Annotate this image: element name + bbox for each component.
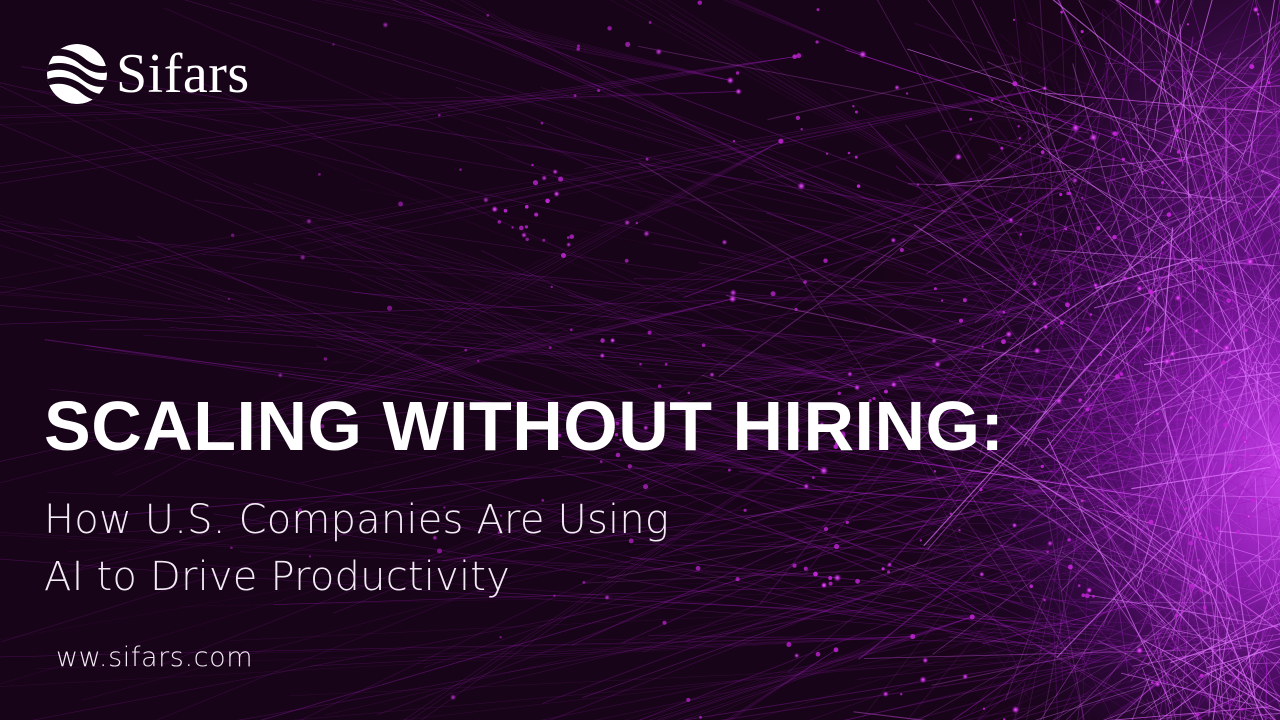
page-subtitle: How U.S. Companies Are Using AI to Drive… [44, 492, 669, 606]
background-glow-upper [0, 0, 1280, 720]
background-glow-wide [0, 0, 1280, 720]
brand-logo[interactable]: Sifars [44, 42, 250, 106]
website-url[interactable]: ww.sifars.com [56, 641, 253, 675]
sifars-wave-circle-icon [44, 42, 110, 106]
subtitle-line-1: How U.S. Companies Are Using [44, 492, 669, 549]
brand-wordmark: Sifars [116, 46, 250, 102]
slide-canvas: Sifars SCALING WITHOUT HIRING: How U.S. … [0, 0, 1280, 720]
page-title: SCALING WITHOUT HIRING: [44, 390, 1004, 462]
particle-network-graphic [0, 0, 1280, 720]
background-glow-core [0, 0, 1280, 720]
subtitle-line-2: AI to Drive Productivity [44, 549, 669, 606]
